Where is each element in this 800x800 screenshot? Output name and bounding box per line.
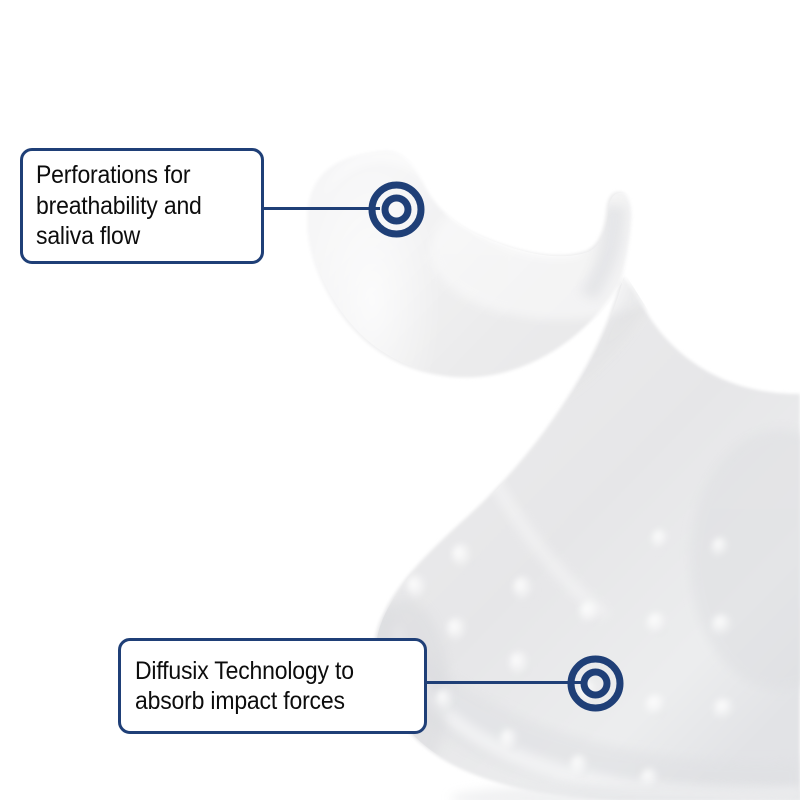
diffusix-dimple [651, 529, 669, 551]
highlight-front-pad [430, 180, 690, 320]
callout-diffusix-label: Diffusix Technology to absorb impact for… [135, 656, 354, 717]
diffusix-dimple [396, 508, 428, 541]
product-feature-callout-graphic: Perforations for breathability and saliv… [0, 0, 800, 800]
callout-perforations[interactable]: Perforations for breathability and saliv… [20, 148, 264, 264]
callout-diffusix[interactable]: Diffusix Technology to absorb impact for… [118, 638, 427, 734]
diffusix-dimple [391, 456, 418, 484]
target-marker-icon-perforations[interactable] [368, 181, 425, 238]
leader-line-diffusix [420, 681, 582, 684]
callout-perforations-label: Perforations for breathability and saliv… [36, 160, 202, 252]
target-marker-icon-diffusix[interactable] [567, 655, 624, 712]
leader-line-perforations [255, 207, 380, 210]
